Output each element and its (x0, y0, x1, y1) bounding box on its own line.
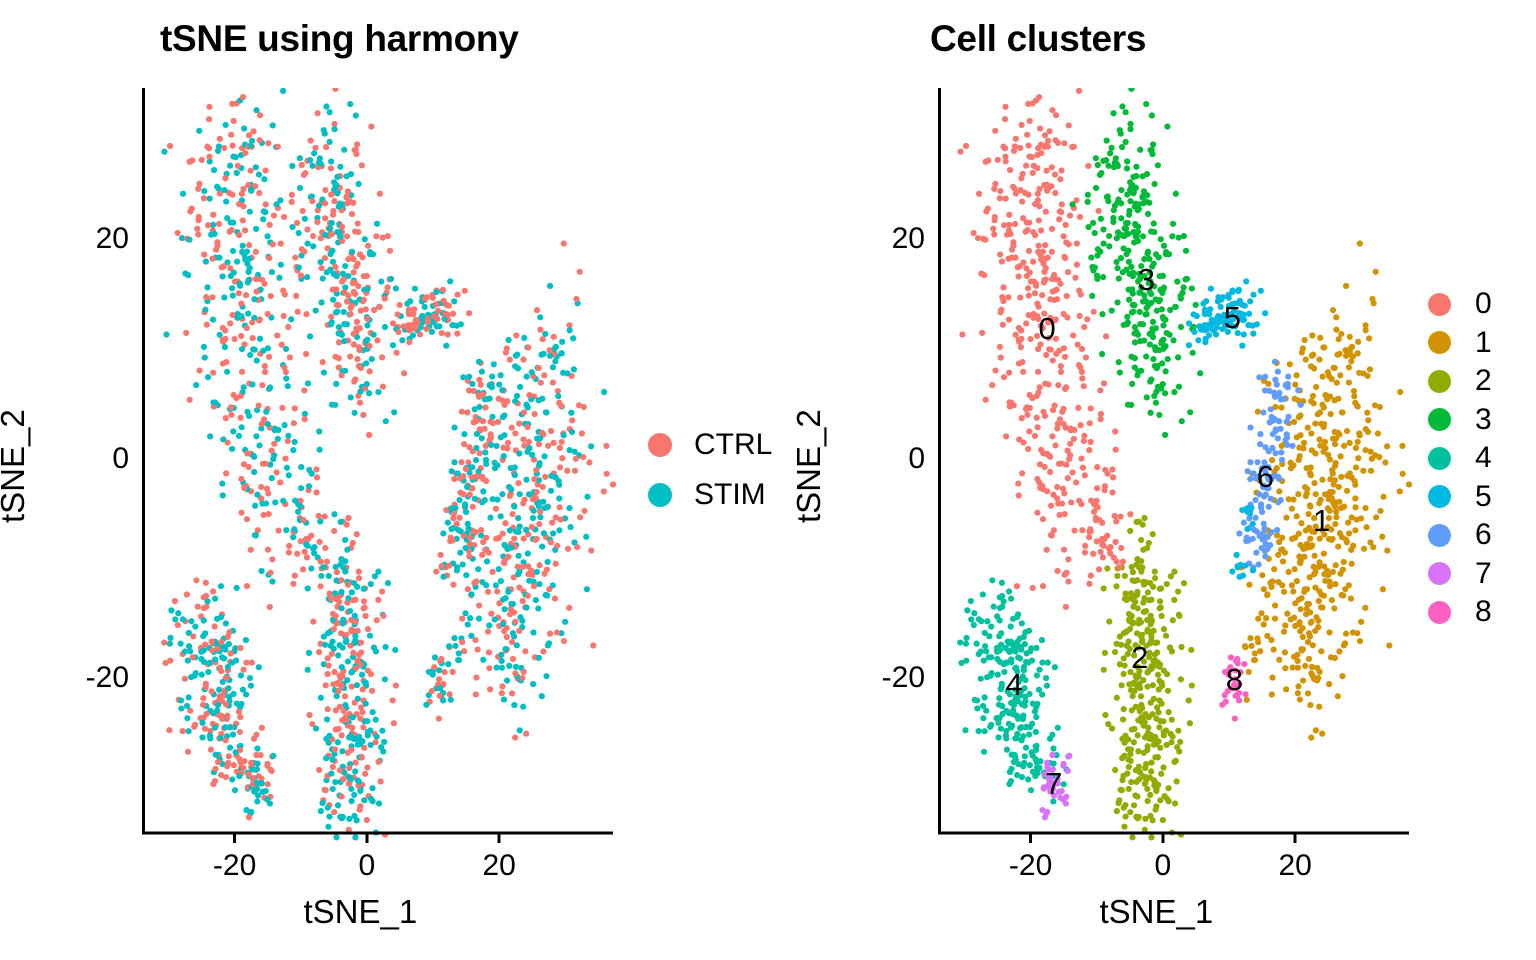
scatter-point (1171, 759, 1177, 765)
scatter-point (1343, 353, 1349, 359)
scatter-point (1190, 350, 1196, 356)
scatter-point (1057, 281, 1063, 287)
scatter-point (322, 787, 328, 793)
scatter-point (1332, 581, 1338, 587)
scatter-point (516, 628, 522, 634)
scatter-point (350, 200, 356, 206)
scatter-point (1020, 369, 1026, 375)
scatter-point (1044, 683, 1050, 689)
scatter-point (288, 316, 294, 322)
scatter-point (460, 561, 466, 567)
scatter-point (1272, 602, 1278, 608)
scatter-point (1236, 574, 1242, 580)
scatter-point (1167, 307, 1173, 313)
scatter-point (205, 222, 211, 228)
scatter-point (325, 630, 331, 636)
scatter-point (1058, 167, 1064, 173)
scatter-point (317, 447, 323, 453)
scatter-point (1329, 467, 1335, 473)
scatter-point (1023, 745, 1029, 751)
scatter-point (974, 697, 980, 703)
scatter-point (1313, 727, 1319, 733)
scatter-point (1307, 535, 1313, 541)
scatter-point (485, 396, 491, 402)
scatter-point (1170, 221, 1176, 227)
scatter-point (991, 186, 997, 192)
scatter-point (1275, 435, 1281, 441)
legend-cluster-item[interactable]: 7 (1428, 555, 1492, 594)
scatter-point (1147, 331, 1153, 337)
scatter-point (1146, 200, 1152, 206)
scatter-point (298, 485, 304, 491)
scatter-point (1155, 162, 1161, 168)
scatter-point (220, 692, 226, 698)
x-axis-title-right: tSNE_1 (1100, 893, 1214, 931)
scatter-point (349, 211, 355, 217)
scatter-point (1008, 766, 1014, 772)
scatter-point (212, 623, 218, 629)
scatter-point (1257, 431, 1263, 437)
scatter-point (1047, 736, 1053, 742)
legend-swatch-icon (1428, 562, 1451, 585)
scatter-point (1144, 394, 1150, 400)
legend-cluster-item[interactable]: 8 (1428, 593, 1492, 632)
scatter-point (1085, 163, 1091, 169)
scatter-point (286, 549, 292, 555)
scatter-point (353, 147, 359, 153)
scatter-point (1121, 706, 1127, 712)
scatter-point (1100, 554, 1106, 560)
scatter-point (246, 242, 252, 248)
scatter-point (292, 498, 298, 504)
scatter-point (539, 693, 545, 699)
scatter-point (374, 337, 380, 343)
scatter-point (440, 287, 446, 293)
scatter-point (1053, 336, 1059, 342)
scatter-point (1298, 646, 1304, 652)
scatter-point (1019, 470, 1025, 476)
scatter-point (1041, 279, 1047, 285)
scatter-point (470, 504, 476, 510)
scatter-point (1256, 561, 1262, 567)
scatter-point (522, 648, 528, 654)
scatter-point (526, 392, 532, 398)
legend-cluster-item[interactable]: 3 (1428, 401, 1492, 440)
scatter-point (227, 320, 233, 326)
scatter-point (247, 675, 253, 681)
scatter-point (1311, 515, 1317, 521)
scatter-point (1112, 160, 1118, 166)
scatter-point (1221, 319, 1227, 325)
scatter-point (1159, 338, 1165, 344)
legend-cluster-label: 8 (1475, 595, 1492, 629)
scatter-point (454, 330, 460, 336)
legend-cluster-item[interactable]: 5 (1428, 478, 1492, 517)
scatter-point (1380, 586, 1386, 592)
x-tick-label: 20 (1235, 849, 1355, 883)
scatter-point (253, 433, 259, 439)
scatter-point (1261, 621, 1267, 627)
legend-condition-item[interactable]: STIM (648, 470, 772, 520)
scatter-point (1147, 269, 1153, 275)
scatter-point (207, 433, 213, 439)
scatter-point (1074, 240, 1080, 246)
scatter-point (1355, 439, 1361, 445)
scatter-point (348, 305, 354, 311)
scatter-point (1065, 448, 1071, 454)
scatter-point (1073, 479, 1079, 485)
scatter-point (1127, 271, 1133, 277)
scatter-point (1052, 664, 1058, 670)
scatter-point (1008, 656, 1014, 662)
scatter-point (1131, 802, 1137, 808)
scatter-point (1030, 259, 1036, 265)
scatter-point (342, 537, 348, 543)
scatter-point (1281, 629, 1287, 635)
scatter-point (543, 673, 549, 679)
scatter-point (1176, 748, 1182, 754)
scatter-point (1134, 793, 1140, 799)
scatter-point (228, 132, 234, 138)
scatter-point (1161, 626, 1167, 632)
scatter-point (547, 353, 553, 359)
scatter-point (1156, 254, 1162, 260)
scatter-point (348, 747, 354, 753)
scatter-point (1206, 322, 1212, 328)
scatter-point (280, 498, 286, 504)
scatter-point (230, 293, 236, 299)
scatter-point (229, 659, 235, 665)
scatter-point (451, 424, 457, 430)
scatter-point (328, 158, 334, 164)
scatter-point (471, 580, 477, 586)
scatter-point (1177, 739, 1183, 745)
scatter-point (385, 284, 391, 290)
scatter-point (245, 310, 251, 316)
scatter-point (233, 154, 239, 160)
scatter-point (536, 581, 542, 587)
scatter-point (175, 610, 181, 616)
scatter-point (579, 430, 585, 436)
scatter-point (476, 377, 482, 383)
scatter-point (573, 296, 579, 302)
scatter-point (493, 582, 499, 588)
scatter-point (246, 413, 252, 419)
scatter-point (246, 814, 252, 820)
scatter-point (1065, 269, 1071, 275)
scatter-point (329, 248, 335, 254)
legend-condition: CTRLSTIM (648, 420, 772, 520)
scatter-point (504, 345, 510, 351)
scatter-point (328, 165, 334, 171)
scatter-point (1089, 293, 1095, 299)
scatter-point (425, 319, 431, 325)
scatter-point (215, 759, 221, 765)
scatter-point (329, 231, 335, 237)
scatter-point (356, 575, 362, 581)
scatter-point (1294, 578, 1300, 584)
scatter-point (1100, 274, 1106, 280)
scatter-point (1268, 529, 1274, 535)
scatter-point (237, 729, 243, 735)
scatter-point (1041, 310, 1047, 316)
legend-cluster-item[interactable]: 1 (1428, 324, 1492, 363)
scatter-point (222, 647, 228, 653)
scatter-point (332, 402, 338, 408)
scatter-point (1297, 432, 1303, 438)
scatter-point (1002, 660, 1008, 666)
scatter-point (551, 334, 557, 340)
scatter-point (1032, 433, 1038, 439)
scatter-point (521, 409, 527, 415)
scatter-point (256, 190, 262, 196)
scatter-point (1129, 564, 1135, 570)
scatter-point (368, 671, 374, 677)
scatter-point (337, 164, 343, 170)
scatter-point (351, 378, 357, 384)
scatter-point (992, 128, 998, 134)
scatter-point (1043, 675, 1049, 681)
scatter-point (1293, 372, 1299, 378)
scatter-point (351, 792, 357, 798)
scatter-point (469, 464, 475, 470)
scatter-point (996, 648, 1002, 654)
scatter-point (1040, 325, 1046, 331)
scatter-point (1148, 760, 1154, 766)
scatter-point (234, 259, 240, 265)
scatter-point (1034, 476, 1040, 482)
scatter-point (242, 227, 248, 233)
scatter-point (1174, 778, 1180, 784)
scatter-point (1297, 696, 1303, 702)
scatter-point (482, 426, 488, 432)
scatter-point (547, 631, 553, 637)
scatter-point (552, 595, 558, 601)
scatter-point (1114, 695, 1120, 701)
scatter-point (461, 441, 467, 447)
scatter-point (1088, 254, 1094, 260)
scatter-point (227, 650, 233, 656)
scatter-point (1259, 572, 1265, 578)
scatter-point (291, 420, 297, 426)
scatter-point (1243, 538, 1249, 544)
legend-condition-item[interactable]: CTRL (648, 420, 772, 470)
scatter-point (1091, 309, 1097, 315)
scatter-point (538, 380, 544, 386)
scatter-point (1153, 400, 1159, 406)
scatter-point (496, 566, 502, 572)
scatter-point (1138, 263, 1144, 269)
scatter-point (202, 726, 208, 732)
scatter-point (454, 292, 460, 298)
scatter-point (1013, 332, 1019, 338)
scatter-point (559, 455, 565, 461)
scatter-point (997, 188, 1003, 194)
scatter-point (300, 208, 306, 214)
scatter-point (553, 514, 559, 520)
legend-cluster-item[interactable]: 6 (1428, 516, 1492, 555)
scatter-point (1258, 503, 1264, 509)
scatter-point (1173, 304, 1179, 310)
scatter-point (1258, 288, 1264, 294)
scatter-point (1247, 476, 1253, 482)
scatter-point (1119, 755, 1125, 761)
scatter-point (348, 683, 354, 689)
scatter-point (1289, 536, 1295, 542)
scatter-point (1295, 658, 1301, 664)
scatter-point (499, 665, 505, 671)
scatter-point (550, 364, 556, 370)
scatter-point (330, 786, 336, 792)
scatter-point (219, 716, 225, 722)
scatter-point (1337, 372, 1343, 378)
scatter-point (1013, 136, 1019, 142)
scatter-point (1066, 456, 1072, 462)
scatter-point (369, 785, 375, 791)
scatter-point (278, 262, 284, 268)
scatter-point (451, 298, 457, 304)
scatter-point (1012, 221, 1018, 227)
scatter-point (1080, 465, 1086, 471)
scatter-point (1034, 672, 1040, 678)
scatter-point (206, 104, 212, 110)
scatter-point (1024, 404, 1030, 410)
scatter-point (1128, 402, 1134, 408)
scatter-point (366, 343, 372, 349)
scatter-point (1135, 224, 1141, 230)
legend-cluster-label: 1 (1475, 326, 1492, 360)
scatter-point (1241, 331, 1247, 337)
scatter-point (1171, 389, 1177, 395)
scatter-point (247, 168, 253, 174)
scatter-point (1084, 316, 1090, 322)
scatter-point (1066, 753, 1072, 759)
scatter-point (220, 273, 226, 279)
scatter-point (570, 335, 576, 341)
scatter-point (1121, 671, 1127, 677)
scatter-point (376, 800, 382, 806)
scatter-point (1337, 453, 1343, 459)
scatter-point (543, 409, 549, 415)
scatter-point (1054, 484, 1060, 490)
scatter-point (342, 263, 348, 269)
scatter-point (584, 494, 590, 500)
scatter-point (1150, 141, 1156, 147)
scatter-point (530, 629, 536, 635)
scatter-point (999, 294, 1005, 300)
scatter-point (334, 174, 340, 180)
scatter-point (332, 779, 338, 785)
legend-swatch-icon (1428, 524, 1451, 547)
scatter-point (343, 194, 349, 200)
scatter-point (1121, 655, 1127, 661)
scatter-point (380, 234, 386, 240)
legend-cluster-item[interactable]: 2 (1428, 362, 1492, 401)
scatter-point (447, 538, 453, 544)
scatter-point (441, 669, 447, 675)
scatter-point (1071, 144, 1077, 150)
legend-cluster-item[interactable]: 4 (1428, 439, 1492, 478)
scatter-point (1006, 370, 1012, 376)
scatter-point (1034, 301, 1040, 307)
scatter-point (1361, 546, 1367, 552)
scatter-point (410, 311, 416, 317)
legend-clusters: 012345678 (1428, 285, 1492, 632)
scatter-point (1094, 464, 1100, 470)
scatter-point (1139, 632, 1145, 638)
scatter-point (1262, 444, 1268, 450)
scatter-point (1034, 510, 1040, 516)
scatter-point (1289, 443, 1295, 449)
legend-cluster-item[interactable]: 0 (1428, 285, 1492, 324)
plot-area-left (142, 88, 605, 833)
scatter-point (1229, 301, 1235, 307)
scatter-point (537, 327, 543, 333)
scatter-point (501, 542, 507, 548)
scatter-point (1175, 588, 1181, 594)
scatter-point (208, 688, 214, 694)
scatter-point (1025, 659, 1031, 665)
scatter-point (332, 354, 338, 360)
scatter-point (1379, 534, 1385, 540)
scatter-point (395, 311, 401, 317)
scatter-point (1106, 545, 1112, 551)
scatter-point (430, 295, 436, 301)
scatter-point (229, 285, 235, 291)
scatter-point (1397, 488, 1403, 494)
scatter-point (1282, 665, 1288, 671)
scatter-point (1250, 323, 1256, 329)
scatter-point (1011, 702, 1017, 708)
scatter-point (559, 350, 565, 356)
scatter-point (257, 112, 263, 118)
scatter-point (1008, 596, 1014, 602)
scatter-point (1369, 456, 1375, 462)
scatter-point (1133, 164, 1139, 170)
scatter-point (1036, 243, 1042, 249)
scatter-point (299, 162, 305, 168)
scatter-point (1008, 725, 1014, 731)
scatter-point (1118, 513, 1124, 519)
scatter-point (1290, 588, 1296, 594)
scatter-point (237, 714, 243, 720)
scatter-point (1150, 319, 1156, 325)
scatter-point (1169, 648, 1175, 654)
scatter-point (445, 661, 451, 667)
scatter-point (1269, 457, 1275, 463)
scatter-point (280, 88, 286, 94)
scatter-point (1349, 561, 1355, 567)
scatter-point (1239, 507, 1245, 513)
scatter-point (277, 479, 283, 485)
scatter-point (1050, 745, 1056, 751)
scatter-point (271, 441, 277, 447)
scatter-point (497, 372, 503, 378)
scatter-point (1062, 255, 1068, 261)
scatter-point (1063, 222, 1069, 228)
scatter-point (364, 381, 370, 387)
y-tick-label: 0 (39, 442, 129, 476)
scatter-point (1131, 739, 1137, 745)
scatter-point (1143, 353, 1149, 359)
scatter-point (1328, 537, 1334, 543)
scatter-point (1050, 766, 1056, 772)
scatter-point (1259, 466, 1265, 472)
scatter-point (539, 396, 545, 402)
scatter-point (338, 793, 344, 799)
scatter-point (328, 314, 334, 320)
scatter-point (1307, 633, 1313, 639)
